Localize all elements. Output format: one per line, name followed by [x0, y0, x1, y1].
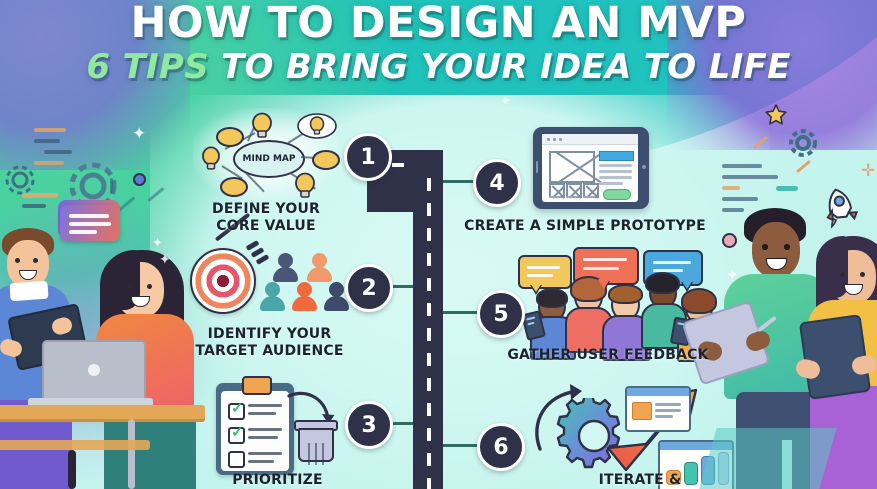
step-number-1: 1: [360, 145, 375, 170]
step-badge-5[interactable]: 5: [477, 290, 525, 338]
tablet-screen: [542, 134, 638, 202]
step-number-6: 6: [493, 435, 508, 460]
step-label-1-line2: CORE VALUE: [186, 218, 346, 235]
infographic-poster: ✦ ✦ ✛ ✦ ✦ HOW TO DESIGN AN MVP 6 TIPS TO…: [0, 0, 877, 489]
checkbox-checked: ✓: [228, 403, 245, 420]
step-label-2: IDENTIFY YOUR TARGET AUDIENCE: [182, 326, 357, 359]
step-label-4-line1: CREATE A SIMPLE PROTOTYPE: [450, 218, 720, 235]
title-line-2: 6 TIPS TO BRING YOUR IDEA TO LIFE: [0, 50, 877, 84]
clipboard-clip: [242, 376, 272, 395]
person-icon: [278, 253, 298, 282]
step-label-5-line1: GATHER USER FEEDBACK: [493, 347, 723, 364]
step-label-2-line2: TARGET AUDIENCE: [182, 343, 357, 360]
step-label-4: CREATE A SIMPLE PROTOTYPE: [450, 218, 720, 235]
chair-leg: [68, 450, 76, 489]
title-line-1: HOW TO DESIGN AN MVP: [0, 2, 877, 45]
checklist-line: [248, 412, 276, 415]
step-number-2: 2: [361, 276, 376, 301]
image-placeholder-icon: [549, 151, 595, 183]
step-badge-6[interactable]: 6: [477, 423, 525, 471]
step-badge-1[interactable]: 1: [344, 133, 392, 181]
mind-map-center-node: MIND MAP: [233, 140, 305, 178]
step-label-6-line1: ITERATE &: [540, 472, 740, 489]
browser-window-top: [625, 386, 691, 432]
decor-message-card: [60, 205, 120, 241]
step-label-3: PRIORITIZE: [190, 472, 365, 489]
person-icon: [297, 282, 317, 311]
step-number-3: 3: [361, 413, 376, 438]
step-number-4: 4: [489, 171, 504, 196]
tablet-home-button: [536, 161, 538, 173]
desk-leg: [128, 419, 135, 489]
checklist-line: [248, 428, 282, 431]
trash-bin-icon: [296, 420, 332, 458]
person-icon: [312, 253, 332, 282]
tablet-device: [533, 127, 649, 209]
sparkle-icon: ✦: [159, 252, 171, 266]
circular-arrow-icon: [534, 383, 598, 462]
checklist-line: [248, 436, 278, 439]
clipboard-paper: ✓ ✓: [221, 391, 289, 471]
wireframe-blue-bar: [599, 151, 634, 161]
checklist-line: [248, 452, 282, 455]
connector-step-6: [443, 444, 481, 447]
poster-title: HOW TO DESIGN AN MVP 6 TIPS TO BRING YOU…: [0, 2, 877, 84]
sparkle-icon: ✦: [500, 94, 511, 107]
step-badge-3[interactable]: 3: [345, 401, 393, 449]
step-label-6: ITERATE &: [540, 472, 740, 489]
connector-step-5: [443, 311, 481, 314]
trash-bin-body: [298, 428, 334, 462]
step-label-3-line1: PRIORITIZE: [190, 472, 365, 489]
step-badge-4[interactable]: 4: [473, 159, 521, 207]
tablet-camera: [642, 165, 646, 169]
chair-part: [0, 440, 150, 450]
step-number-5: 5: [493, 302, 508, 327]
checkbox-checked: ✓: [228, 427, 245, 444]
checkbox-empty: [228, 451, 245, 468]
desk-surface: [0, 405, 205, 419]
clipboard-icon: ✓ ✓: [216, 383, 294, 475]
mind-map-center-label: MIND MAP: [243, 154, 296, 164]
title-rest: TO BRING YOUR IDEA TO LIFE: [221, 47, 791, 87]
step-label-1-line1: DEFINE YOUR: [186, 201, 346, 218]
road-dashes-vertical: [427, 178, 431, 489]
step-label-5: GATHER USER FEEDBACK: [493, 347, 723, 364]
checklist-line: [248, 460, 274, 463]
wireframe-titlebar: [542, 134, 638, 145]
step-label-2-line1: IDENTIFY YOUR: [182, 326, 357, 343]
step-label-1: DEFINE YOUR CORE VALUE: [186, 201, 346, 234]
speech-bubble-yellow: [518, 255, 572, 289]
laptop-logo: [88, 364, 100, 376]
step-badge-2[interactable]: 2: [345, 264, 393, 312]
window-titlebar: [627, 388, 689, 396]
laptop-screen: [42, 340, 146, 404]
wireframe-cta-button: [603, 189, 631, 200]
checklist-line: [248, 404, 282, 407]
title-highlight: 6 TIPS: [86, 47, 209, 87]
person-icon: [265, 282, 285, 311]
